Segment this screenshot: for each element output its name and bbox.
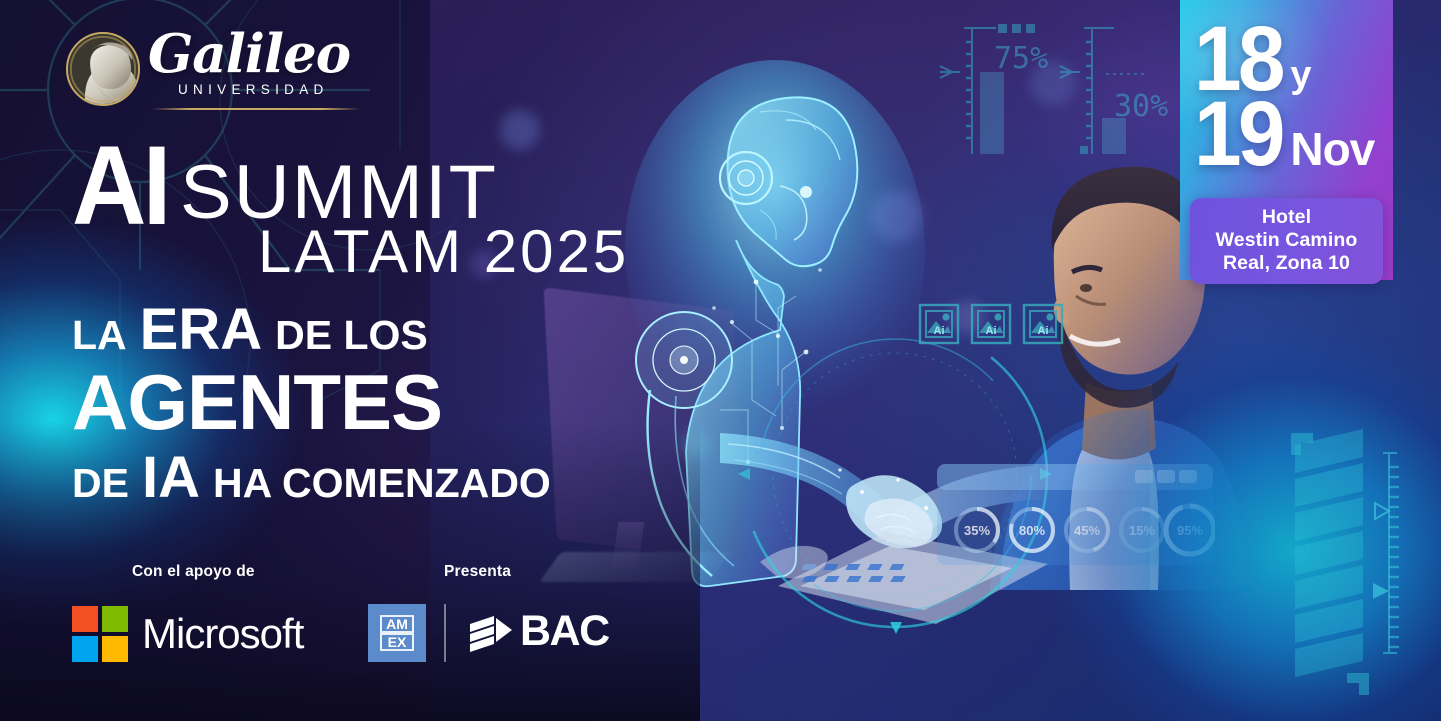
ai-image-icon: Ai	[918, 303, 960, 345]
support-label: Con el apoyo de	[132, 563, 255, 581]
tagline-de-los: DE LOS	[275, 312, 428, 359]
hud-gauge-group: 75% 30%	[920, 6, 1220, 186]
logo-divider-rule	[152, 108, 360, 110]
sponsor-divider	[444, 604, 446, 662]
bac-logo[interactable]: BAC	[468, 610, 609, 653]
logo-wordmark: Galileo UNIVERSIDAD	[148, 28, 350, 97]
ms-square-yellow	[102, 636, 128, 662]
tagline-era: ERA	[140, 296, 262, 363]
date-panel: 18 y 19 Nov Hotel Westin Camino Real, Zo…	[1180, 0, 1393, 280]
ai-icon-label: Ai	[934, 325, 945, 337]
sponsor-section: Con el apoyo de Presenta Microsoft AM EX	[72, 560, 612, 680]
tagline-la: LA	[72, 312, 127, 359]
date-row-second: 19 Nov	[1194, 97, 1374, 172]
event-tagline: LA ERA DE LOS AGENTES DE IA HA COMENZADO	[72, 296, 551, 511]
venue-line-3: Real, Zona 10	[1196, 252, 1377, 275]
venue-line-1: Hotel	[1196, 206, 1377, 229]
title-ai: AI	[72, 138, 168, 234]
tagline-line-1: LA ERA DE LOS	[72, 296, 551, 363]
event-title: AI SUMMIT LATAM 2025	[72, 138, 629, 282]
galileo-bust-icon	[66, 32, 140, 106]
date-conjunction: y	[1290, 60, 1311, 91]
bac-wordmark: BAC	[520, 610, 609, 653]
gauge-value-2: 30%	[1114, 89, 1168, 124]
microsoft-squares-icon	[72, 606, 128, 662]
tagline-comenzado: HA COMENZADO	[213, 460, 551, 507]
amex-logo[interactable]: AM EX	[368, 604, 426, 662]
date-numbers: 18 y 19 Nov	[1194, 22, 1374, 173]
logo-universidad-text: UNIVERSIDAD	[178, 82, 350, 97]
tagline-line-3: DE IA HA COMENZADO	[72, 444, 551, 511]
ms-square-blue	[72, 636, 98, 662]
title-summit: SUMMIT	[180, 158, 498, 228]
tagline-ia: IA	[142, 444, 200, 511]
corner-stripe-decor	[1271, 381, 1441, 721]
ms-square-green	[102, 606, 128, 632]
tagline-agentes: AGENTES	[72, 358, 442, 446]
venue-badge: Hotel Westin Camino Real, Zona 10	[1190, 198, 1383, 284]
amex-text-am: AM	[386, 616, 408, 632]
logo-galileo-text: Galileo	[148, 28, 350, 81]
tagline-de: DE	[72, 460, 129, 507]
date-day-19: 19	[1194, 97, 1282, 172]
ai-summit-latam-banner: 75% 30% 35%	[0, 0, 1441, 721]
tagline-line-2: AGENTES	[72, 365, 551, 440]
ms-square-red	[72, 606, 98, 632]
venue-line-2: Westin Camino	[1196, 229, 1377, 252]
microsoft-wordmark: Microsoft	[142, 613, 303, 655]
galileo-university-logo[interactable]: Galileo UNIVERSIDAD	[66, 30, 316, 112]
bac-chevron-icon	[468, 612, 514, 652]
presenter-label: Presenta	[444, 563, 511, 581]
microsoft-logo[interactable]: Microsoft	[72, 606, 303, 662]
gauge-value-1: 75%	[994, 41, 1048, 76]
amex-text-ex: EX	[388, 634, 407, 650]
date-month: Nov	[1290, 131, 1374, 169]
